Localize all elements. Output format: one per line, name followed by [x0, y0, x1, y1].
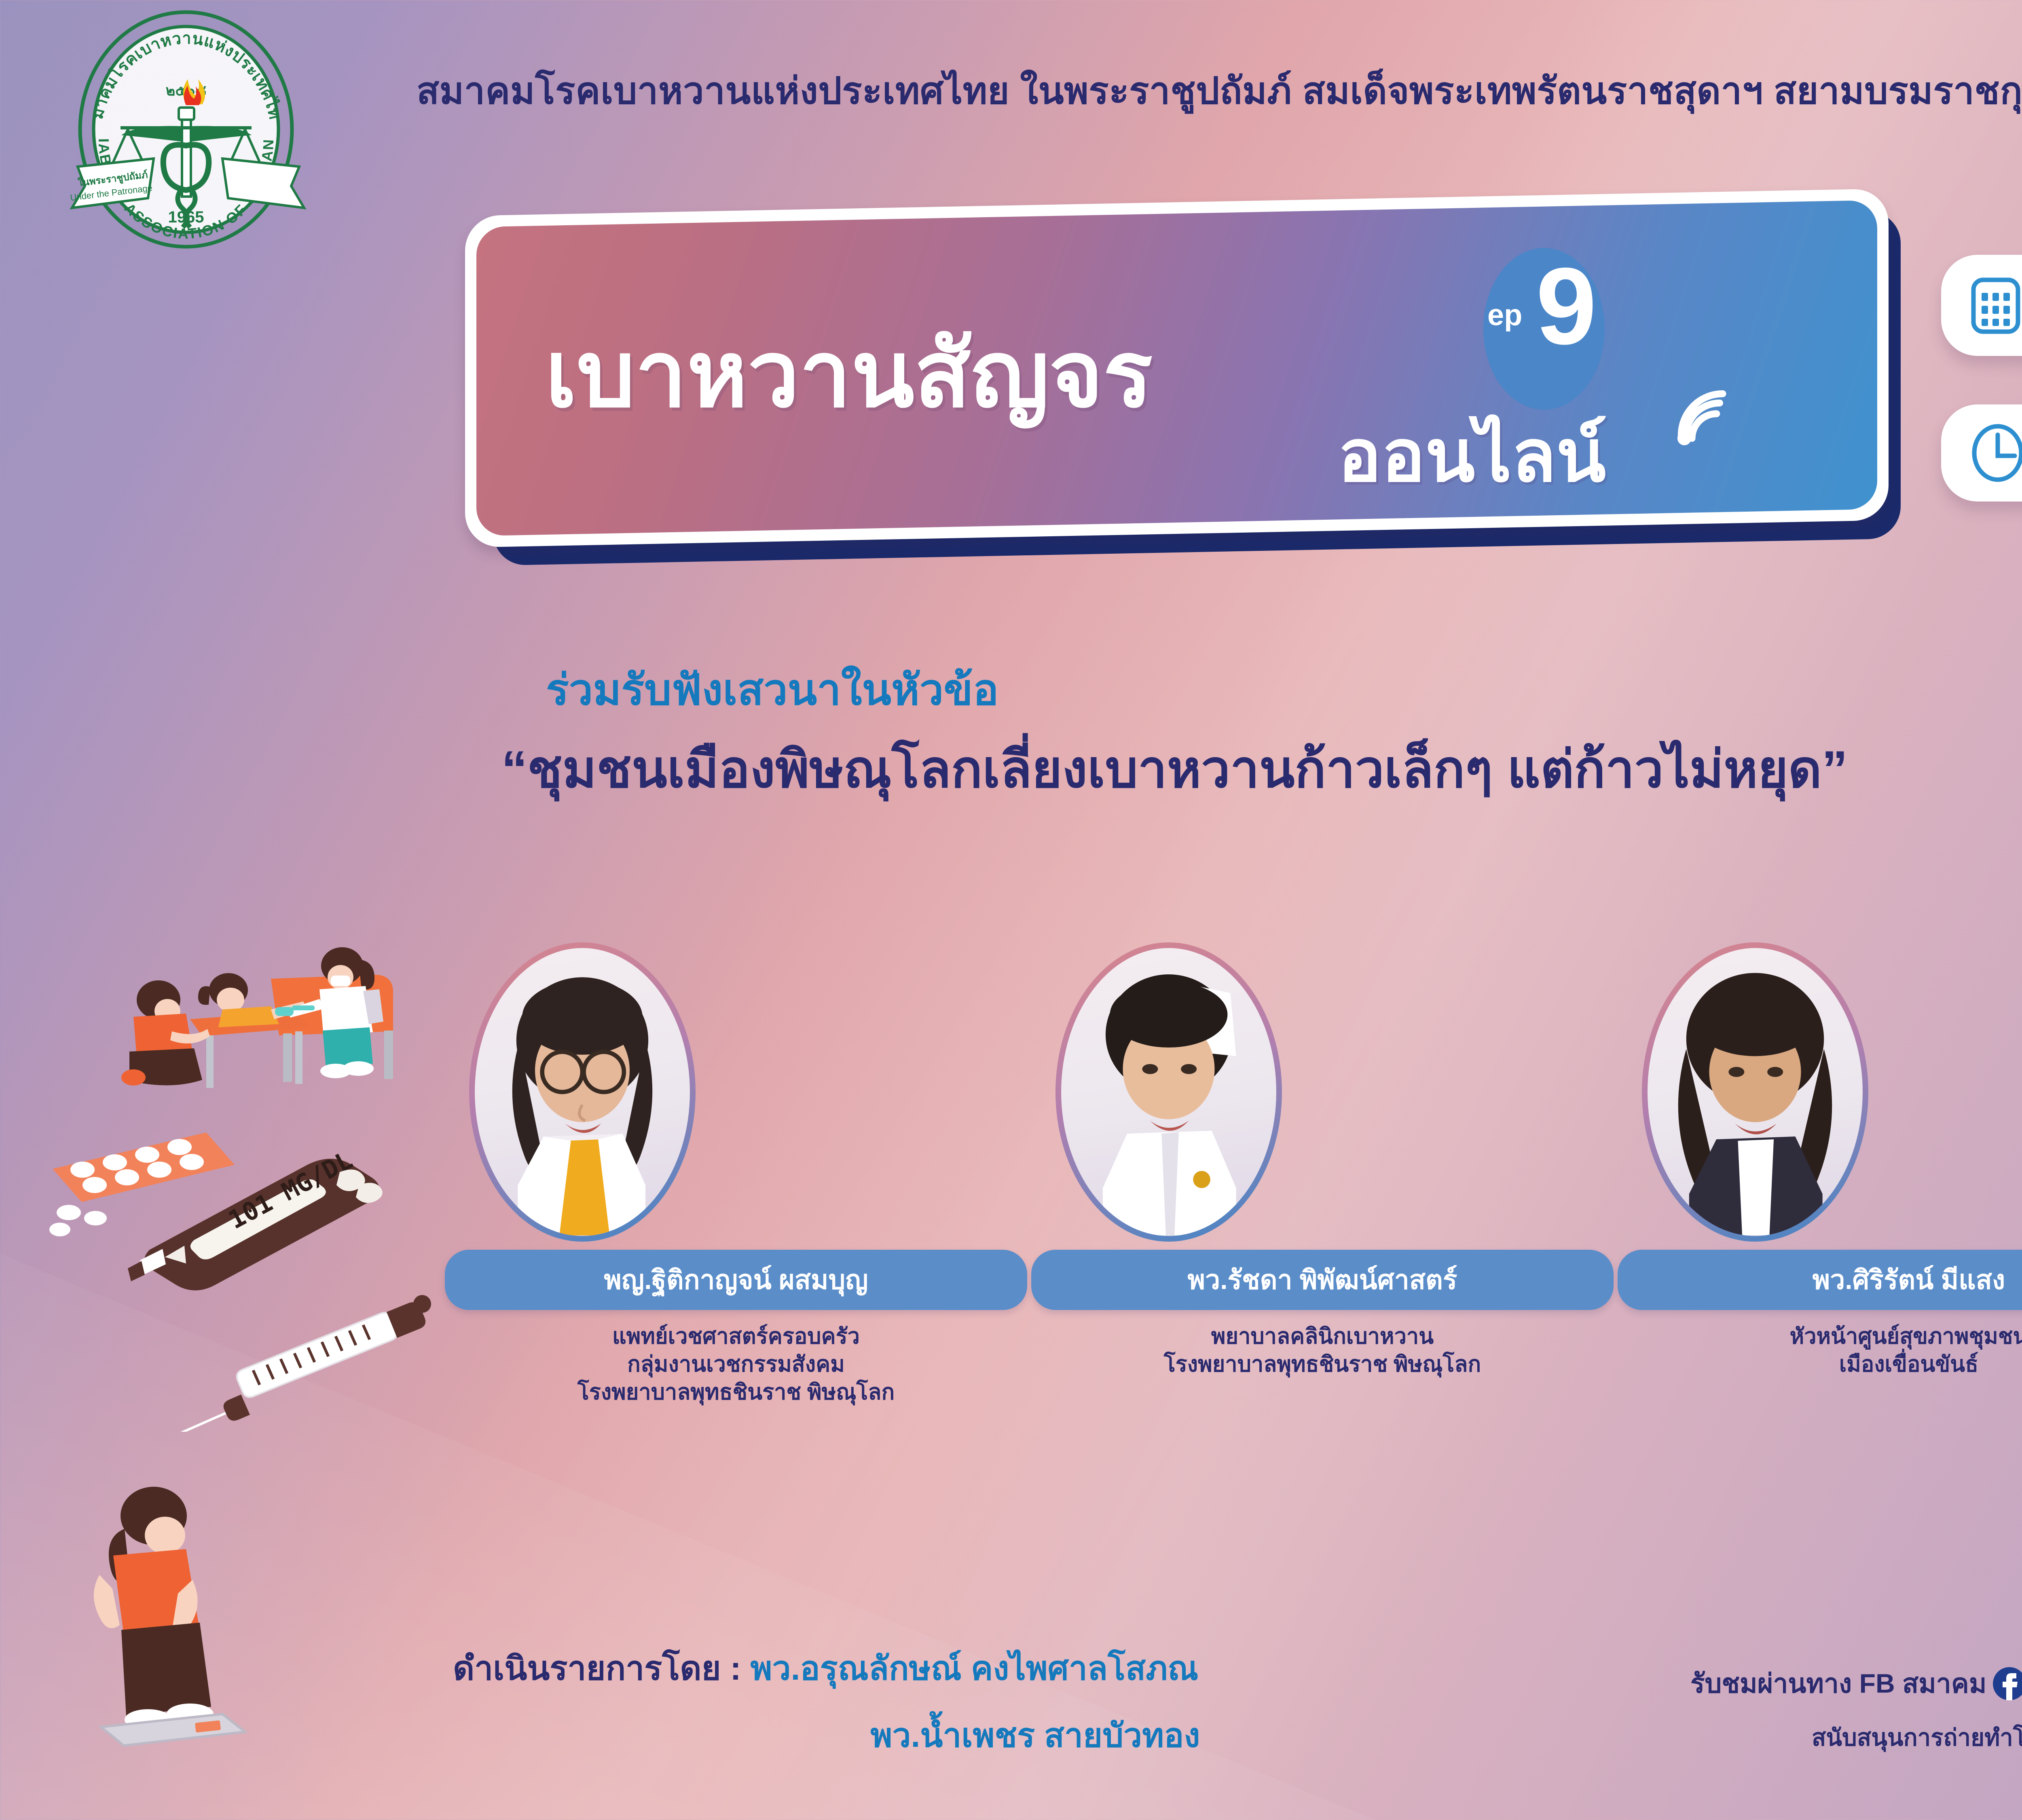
- diabetes-association-seal-logo: สมาคมโรคเบาหวานแห่งประเทศไทย DIABETES AS…: [32, 8, 340, 259]
- speaker-role-line: พยาบาลคลินิกเบาหวาน: [1031, 1323, 1614, 1350]
- syringe-icon: [146, 1286, 437, 1432]
- speaker-photo-frame-2: [1055, 942, 1282, 1242]
- plaque-gradient-body: เบาหวานสัญจร ep 9 ออนไลน์: [476, 200, 1877, 536]
- calendar-icon: [1969, 275, 2022, 336]
- speaker-name-1: พญ.ฐิติกาญจน์ ผสมบุญ: [452, 1259, 1020, 1301]
- glucose-meter-icon: 101 MG/DL: [113, 1120, 396, 1298]
- speaker-name-badge-1: พญ.ฐิติกาญจน์ ผสมบุญ: [445, 1250, 1027, 1310]
- speaker-portrait-3-illustration: [1648, 948, 1863, 1236]
- speaker-photo-frame-3: [1642, 942, 1868, 1242]
- wifi-icon: [1661, 375, 1738, 452]
- host-name-1: พว.อรุณลักษณ์ คงไพศาลโสภณ: [751, 1650, 1199, 1687]
- watch-prefix: รับชมผ่านทาง FB สมาคม: [1690, 1662, 1986, 1705]
- speaker-photo-2: [1061, 948, 1276, 1236]
- speaker-role-line: โรงพยาบาลพุทธชินราช พิษณุโลก: [445, 1378, 1027, 1406]
- topic-lead-text: ร่วมรับฟังเสวนาในหัวข้อ: [546, 655, 999, 724]
- speaker-role-line: โรงพยาบาลพุทธชินราช พิษณุโลก: [1031, 1350, 1614, 1378]
- speaker-photo-3: [1648, 948, 1863, 1236]
- speaker-role-line: แพทย์เวชศาสตร์ครอบครัว: [445, 1323, 1027, 1350]
- facebook-icon[interactable]: [1992, 1666, 2022, 1701]
- facebook-block: รับชมผ่านทาง FB สมาคม สมาคมโรคเบาหวานแห่…: [1690, 1662, 2022, 1756]
- speaker-roles-1: แพทย์เวชศาสตร์ครอบครัว กลุ่มงานเวชกรรมสั…: [445, 1323, 1027, 1406]
- speaker-role-line: กลุ่มงานเวชกรรมสังคม: [445, 1350, 1027, 1378]
- host-line: ดำเนินรายการโดย : พว.อรุณลักษณ์ คงไพศาลโ…: [453, 1642, 1666, 1695]
- speaker-roles-2: พยาบาลคลินิกเบาหวาน โรงพยาบาลพุทธชินราช …: [1031, 1323, 1614, 1378]
- person-on-weight-scale-icon: [53, 1480, 263, 1755]
- speaker-name-3: พว.ศิริรัตน์ มีแสง: [1625, 1259, 2022, 1301]
- host-block: ดำเนินรายการโดย : พว.อรุณลักษณ์ คงไพศาลโ…: [453, 1642, 1666, 1762]
- host-label: ดำเนินรายการโดย :: [453, 1650, 751, 1687]
- speaker-photo-frame-1: [469, 942, 696, 1242]
- episode-label: ep: [1487, 298, 1522, 332]
- watch-line: รับชมผ่านทาง FB สมาคม สมาคมโรคเบาหวานแห่…: [1690, 1662, 2022, 1705]
- online-word: ออนไลน์: [1338, 398, 1606, 513]
- speaker-roles-3: หัวหน้าศูนย์สุขภาพชุมชน เมืองเขื่อนขันธ์: [1618, 1323, 2022, 1378]
- speaker-role-line: หัวหน้าศูนย์สุขภาพชุมชน: [1618, 1323, 2022, 1350]
- time-pill: เวลา 14.20-15:30 น.: [1941, 404, 2022, 502]
- event-main-title: เบาหวานสัญจร: [545, 301, 1153, 447]
- speaker-name-2: พว.รัชดา พิพัฒน์ศาสตร์: [1038, 1259, 1606, 1301]
- event-title-plaque: เบาหวานสัญจร ep 9 ออนไลน์: [465, 202, 1921, 558]
- speaker-photo-1: [475, 948, 690, 1236]
- host-name-2: พว.น้ำเพชร สายบัวทอง: [453, 1709, 1666, 1762]
- association-header-line: สมาคมโรคเบาหวานแห่งประเทศไทย ในพระราชูปถ…: [417, 61, 2022, 120]
- speaker-role-line: เมืองเขื่อนขันธ์: [1618, 1350, 2022, 1378]
- seal-founded-year: 1965: [168, 208, 204, 226]
- sponsor-line: สนับสนุนการถ่ายทำโดย : บริษัท แอ๊บบอต ลา…: [1812, 1718, 2022, 1756]
- speaker-name-badge-3: พว.ศิริรัตน์ มีแสง: [1618, 1250, 2022, 1310]
- topic-title-text: “ชุมชนเมืองพิษณุโลกเลี่ยงเบาหวานก้าวเล็ก…: [501, 728, 2022, 810]
- speaker-portrait-2-illustration: [1061, 948, 1276, 1236]
- speakers-row: พญ.ฐิติกาญจน์ ผสมบุญ แพทย์เวชศาสตร์ครอบค…: [445, 942, 2022, 1509]
- speaker-portrait-1-illustration: [475, 948, 690, 1236]
- episode-number: 9: [1536, 252, 1597, 361]
- date-pill: วันพุธที่ 29 มีนาคม 2566: [1941, 255, 2022, 356]
- speaker-name-badge-2: พว.รัชดา พิพัฒน์ศาสตร์: [1031, 1250, 1614, 1310]
- clock-icon: [1969, 423, 2022, 483]
